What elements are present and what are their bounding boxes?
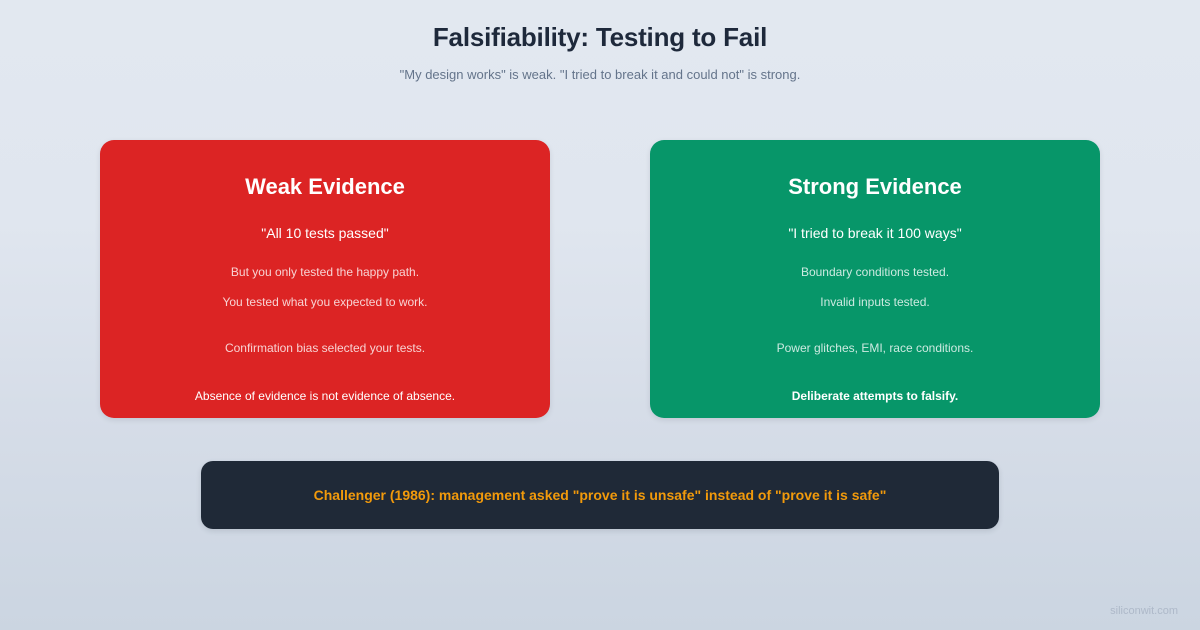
page-title: Falsifiability: Testing to Fail: [0, 22, 1200, 52]
list-item: Power glitches, EMI, race conditions.: [777, 340, 974, 356]
list-item: You tested what you expected to work.: [222, 294, 427, 310]
strong-evidence-card-claim: "I tried to break it 100 ways": [788, 224, 961, 242]
weak-evidence-card-title: Weak Evidence: [245, 174, 405, 200]
weak-evidence-card-kicker: Absence of evidence is not evidence of a…: [195, 388, 455, 404]
strong-evidence-card-title: Strong Evidence: [788, 174, 962, 200]
weak-evidence-card-claim: "All 10 tests passed": [261, 224, 388, 242]
list-item: Boundary conditions tested.: [801, 264, 949, 280]
list-item: Confirmation bias selected your tests.: [225, 340, 425, 356]
evidence-comparison-row: Weak Evidence "All 10 tests passed" But …: [100, 140, 1100, 418]
page-subtitle: "My design works" is weak. "I tried to b…: [0, 66, 1200, 84]
page-header: Falsifiability: Testing to Fail "My desi…: [0, 0, 1200, 84]
weak-evidence-card: Weak Evidence "All 10 tests passed" But …: [100, 140, 550, 418]
strong-evidence-card: Strong Evidence "I tried to break it 100…: [650, 140, 1100, 418]
challenger-footnote-text: Challenger (1986): management asked "pro…: [294, 486, 907, 504]
challenger-footnote-banner: Challenger (1986): management asked "pro…: [201, 461, 999, 529]
strong-evidence-card-kicker: Deliberate attempts to falsify.: [792, 388, 959, 404]
list-item: Invalid inputs tested.: [820, 294, 929, 310]
site-watermark: siliconwit.com: [1110, 604, 1178, 618]
list-item: But you only tested the happy path.: [231, 264, 419, 280]
strong-evidence-point-list: Boundary conditions tested. Invalid inpu…: [676, 264, 1074, 370]
weak-evidence-point-list: But you only tested the happy path. You …: [126, 264, 524, 370]
